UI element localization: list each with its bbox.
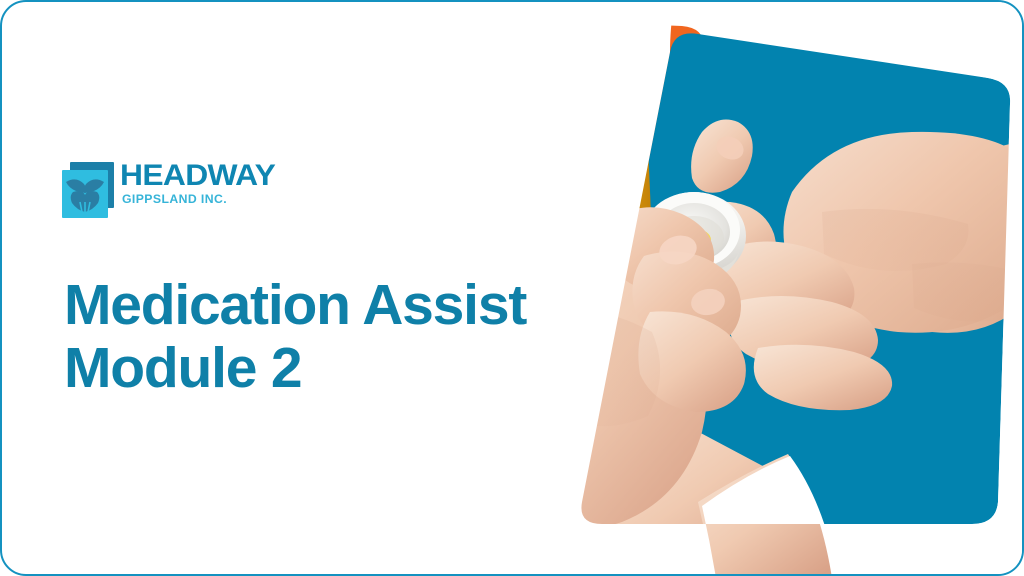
slide-title: Medication Assist Module 2 xyxy=(64,274,584,400)
logo-wordmark: HEADWAY xyxy=(120,160,275,192)
slide-card: HEADWAY GIPPSLAND INC. Medication Assist… xyxy=(0,0,1024,576)
right-hand-wrist-shading xyxy=(912,262,1024,321)
headway-logo: HEADWAY GIPPSLAND INC. xyxy=(60,162,270,224)
logo-tagline: GIPPSLAND INC. xyxy=(122,192,227,206)
headway-hands-square-logo-icon xyxy=(60,162,122,220)
headway-wordmark-group: HEADWAY GIPPSLAND INC. xyxy=(120,162,270,220)
